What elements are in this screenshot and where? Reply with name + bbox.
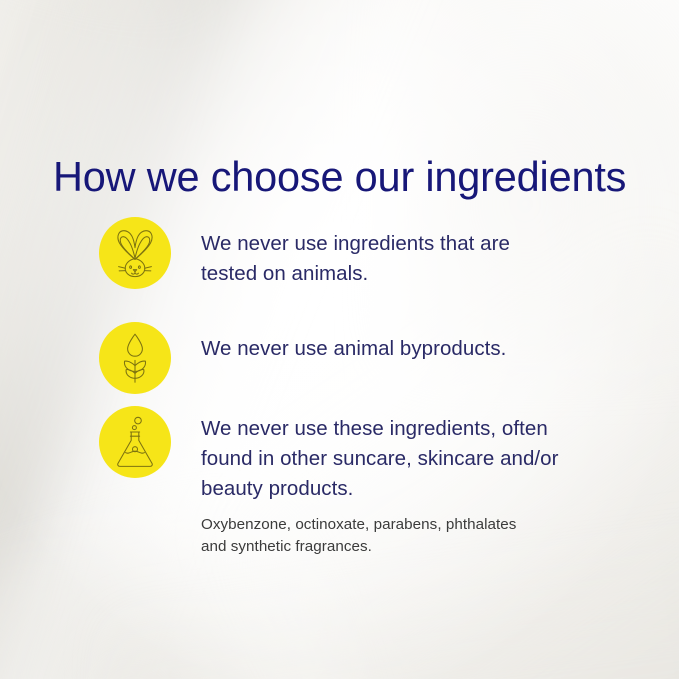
copy-line: We never use ingredients that are [201, 229, 510, 259]
copy-line: We never use animal byproducts. [201, 334, 506, 364]
list-item-copy: We never use these ingredients, often fo… [201, 414, 559, 504]
icon-badge [99, 322, 171, 394]
list-item: We never use animal byproducts. [99, 322, 506, 394]
content-layer: How we choose our ingredients [0, 0, 679, 679]
copy-line: found in other suncare, skincare and/or [201, 444, 559, 474]
list-item: We never use ingredients that are tested… [99, 217, 510, 289]
disclaimer-line: Oxybenzone, octinoxate, parabens, phthal… [201, 514, 559, 536]
list-item-copy: We never use animal byproducts. [201, 334, 506, 364]
copy-line: We never use these ingredients, often [201, 414, 559, 444]
copy-line: beauty products. [201, 474, 559, 504]
plant-leaf-droplet-icon [115, 332, 155, 384]
bunny-heart-ears-icon [112, 228, 158, 278]
icon-badge [99, 406, 171, 478]
ingredient-disclaimer: Oxybenzone, octinoxate, parabens, phthal… [201, 514, 559, 558]
ingredients-infographic: How we choose our ingredients [0, 0, 679, 679]
icon-badge [99, 217, 171, 289]
disclaimer-line: and synthetic fragrances. [201, 536, 559, 558]
list-item-text: We never use animal byproducts. [201, 322, 506, 364]
list-item: We never use these ingredients, often fo… [99, 406, 559, 558]
list-item-text: We never use these ingredients, often fo… [201, 406, 559, 558]
copy-line: tested on animals. [201, 259, 510, 289]
flask-beaker-icon [113, 416, 157, 468]
list-item-text: We never use ingredients that are tested… [201, 217, 510, 289]
page-title: How we choose our ingredients [53, 152, 626, 202]
list-item-copy: We never use ingredients that are tested… [201, 229, 510, 289]
